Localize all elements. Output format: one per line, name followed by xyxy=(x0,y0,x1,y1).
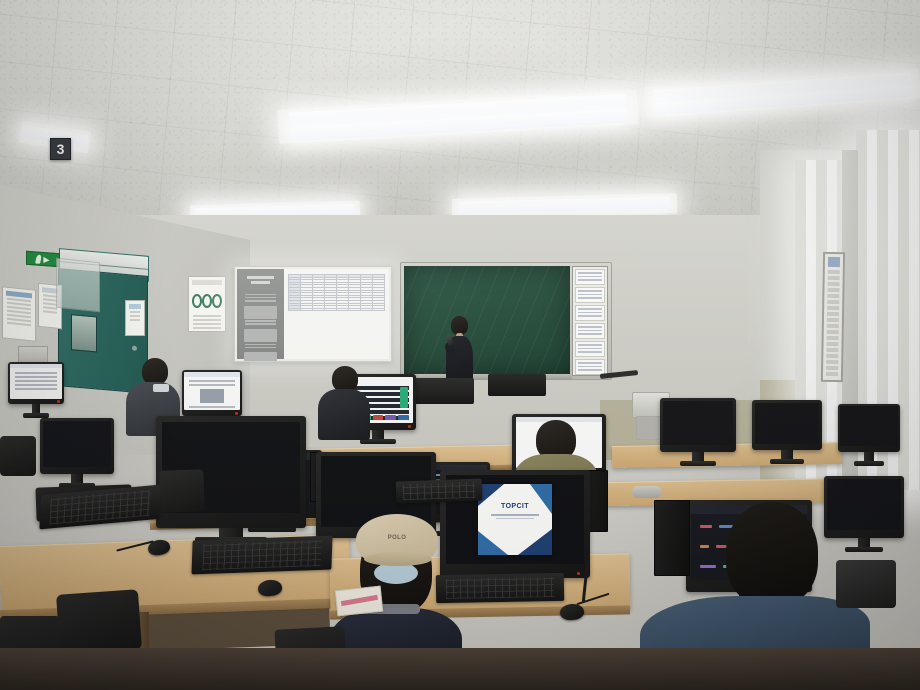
door-window xyxy=(71,314,97,352)
student-torso xyxy=(318,389,370,440)
cap-text-polo: POLO xyxy=(356,535,438,541)
presentation-slide xyxy=(237,269,389,359)
mouse-row2[interactable] xyxy=(559,603,584,621)
monitor-row2-1 xyxy=(40,418,114,474)
book-on-desk[interactable] xyxy=(335,586,383,617)
desk-object xyxy=(632,486,662,498)
room-number-sign-3: 3 xyxy=(50,138,71,160)
topcit-title-large: TOPCIT xyxy=(478,503,553,510)
monitor-far-1 xyxy=(8,362,64,404)
topcit-document-page-large: TOPCIT xyxy=(478,484,553,555)
topcit-corner-shape xyxy=(518,529,552,555)
topcit-corner-shape xyxy=(478,531,508,555)
chair-back-mid[interactable] xyxy=(159,469,204,513)
keyboard-mid[interactable] xyxy=(396,479,483,504)
screen-green-highlight xyxy=(400,387,408,408)
chair-right[interactable] xyxy=(836,560,896,608)
chair-back-left[interactable] xyxy=(0,436,36,476)
monitor-far-7 xyxy=(838,404,900,452)
cap-brim xyxy=(364,552,432,566)
wall-poster-rings xyxy=(188,276,226,332)
floor xyxy=(0,648,920,690)
student-head xyxy=(142,358,168,385)
schedule-board-right xyxy=(821,252,845,382)
book-accent xyxy=(340,594,377,606)
slide-data-table xyxy=(284,269,389,359)
wall-whiteboard-small xyxy=(56,258,100,313)
exit-sign: ▶ xyxy=(26,251,60,267)
exit-arrow-icon: ▶ xyxy=(43,255,49,264)
exit-figure-icon xyxy=(35,254,42,263)
slide-title-panel xyxy=(237,269,284,359)
monitor-far-2 xyxy=(182,370,242,416)
monitor-far-5 xyxy=(660,398,736,452)
wall-poster-notice xyxy=(2,286,36,342)
room-number-text: 3 xyxy=(57,141,65,157)
green-chalkboard xyxy=(404,266,570,374)
classroom-photo: 3 1 ▶ xyxy=(0,0,920,690)
keyboard-front-center[interactable] xyxy=(191,536,332,575)
chair-front-left[interactable] xyxy=(56,589,142,655)
monitor-far-6 xyxy=(752,400,822,450)
door-handle[interactable] xyxy=(132,346,137,351)
podium-monitor xyxy=(488,374,546,396)
ring-diagram-icon xyxy=(192,294,222,308)
projector-screen xyxy=(234,266,392,362)
board-notice-panel xyxy=(572,266,608,376)
wall-poster-blue xyxy=(125,300,145,336)
shirt-collar xyxy=(153,384,169,392)
topcit-corner-shape xyxy=(530,484,552,514)
student-mid-dark xyxy=(318,366,370,440)
student-head xyxy=(726,502,818,606)
